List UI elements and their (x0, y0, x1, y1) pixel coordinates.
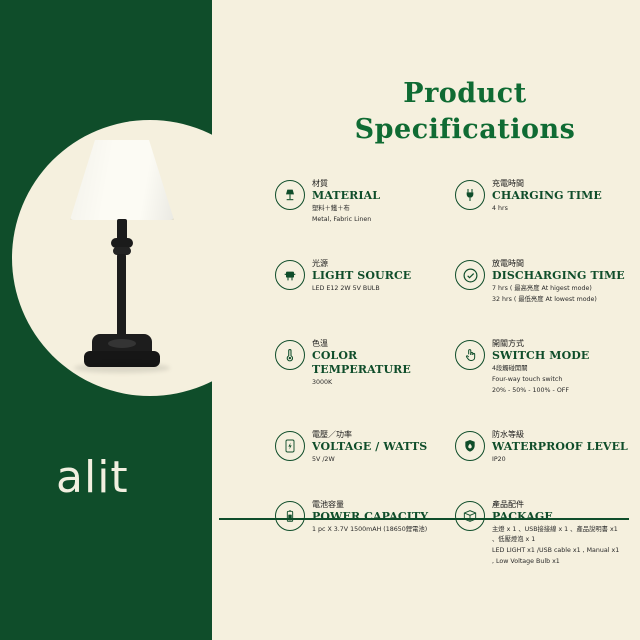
spec-value: 20% - 50% - 100% - OFF (492, 387, 589, 396)
spec-value: 1 pc X 3.7V 1500mAH (18650鋰電池) (312, 526, 428, 535)
spec-label-cn: 色溫 (312, 338, 455, 349)
spec-label-en: VOLTAGE / WATTS (312, 440, 427, 454)
spec-label-cn: 光源 (312, 258, 411, 269)
spec-label-cn: 防水等級 (492, 429, 628, 440)
spec-value: , Low Voltage Bulb x1 (492, 558, 619, 567)
lamp-base-shadow (74, 363, 170, 373)
lamp-shade-shading (70, 140, 174, 220)
spec-value: LED E12 2W 5V BULB (312, 285, 411, 294)
page-title-line-2: Specifications (300, 112, 630, 148)
spec-label-en: SWITCH MODE (492, 349, 589, 363)
spec-value: LED LIGHT x1 /USB cable x1 , Manual x1 (492, 547, 619, 556)
led-chip-icon (275, 260, 305, 290)
lamp-material-icon (275, 180, 305, 210)
spec-value: Four-way touch switch (492, 376, 589, 385)
spec-label-en: PACKAGE (492, 510, 619, 524)
spec-label-cn: 充電時間 (492, 178, 602, 189)
spec-label-cn: 材質 (312, 178, 380, 189)
spec-value: 5V /2W (312, 456, 427, 465)
thermometer-icon (275, 340, 305, 370)
spec-label-en: POWER CAPACITY (312, 510, 428, 524)
spec-row: 電壓／功率 VOLTAGE / WATTS 5V /2W 防水等級 WATERP… (275, 429, 635, 465)
spec-label-cn: 開關方式 (492, 338, 589, 349)
spec-value: 4 hrs (492, 205, 602, 214)
clock-check-icon (455, 260, 485, 290)
spec-label-cn: 電池容量 (312, 499, 428, 510)
spec-value: 、低壓燈泡 x 1 (492, 536, 619, 545)
spec-item-switch-mode: 開關方式 SWITCH MODE 4段觸碰開關 Four-way touch s… (455, 338, 635, 395)
spec-label-en: COLOR TEMPERATURE (312, 349, 455, 377)
spec-item-package: 產品配件 PACKAGE 主燈 x 1 、USB接接線 x 1 、產品說明書 x… (455, 499, 635, 566)
spec-value: 塑料＋鐵＋布 (312, 205, 380, 214)
waterproof-shield-icon (455, 431, 485, 461)
spec-value: 4段觸碰開關 (492, 365, 589, 374)
spec-item-voltage-watts: 電壓／功率 VOLTAGE / WATTS 5V /2W (275, 429, 455, 465)
spec-label-en: MATERIAL (312, 189, 380, 203)
spec-value: 7 hrs ( 最高亮度 At higest mode) (492, 285, 625, 294)
page-title-line-1: Product (300, 76, 630, 112)
spec-label-cn: 產品配件 (492, 499, 619, 510)
spec-item-color-temperature: 色溫 COLOR TEMPERATURE 3000K (275, 338, 455, 395)
bottom-divider (219, 518, 629, 520)
battery-icon (275, 501, 305, 531)
spec-label-en: CHARGING TIME (492, 189, 602, 203)
package-box-icon (455, 501, 485, 531)
spec-label-cn: 電壓／功率 (312, 429, 427, 440)
spec-item-material: 材質 MATERIAL 塑料＋鐵＋布 Metal, Fabric Linen (275, 178, 455, 224)
spec-value: 3000K (312, 379, 455, 388)
page-title: Product Specifications (300, 76, 630, 148)
product-image-circle (12, 120, 288, 396)
lamp-pole (117, 254, 126, 339)
brand-logo: alit (56, 452, 129, 503)
lamp-illustration (12, 120, 288, 396)
plug-icon (455, 180, 485, 210)
spec-item-power-capacity: 電池容量 POWER CAPACITY 1 pc X 3.7V 1500mAH … (275, 499, 455, 566)
lamp-base-ring (108, 339, 136, 348)
spec-item-charging-time: 充電時間 CHARGING TIME 4 hrs (455, 178, 635, 224)
spec-label-cn: 放電時間 (492, 258, 625, 269)
spec-row: 材質 MATERIAL 塑料＋鐵＋布 Metal, Fabric Linen 充… (275, 178, 635, 224)
spec-label-en: DISCHARGING TIME (492, 269, 625, 283)
spec-row: 光源 LIGHT SOURCE LED E12 2W 5V BULB 放電時間 … (275, 258, 635, 304)
spec-value: Metal, Fabric Linen (312, 216, 380, 225)
spec-item-light-source: 光源 LIGHT SOURCE LED E12 2W 5V BULB (275, 258, 455, 304)
page-root: alit Product Specifications 材質 MATERIAL … (0, 0, 640, 640)
spec-row: 色溫 COLOR TEMPERATURE 3000K 開關方式 SWITCH M… (275, 338, 635, 395)
voltage-bolt-icon (275, 431, 305, 461)
spec-value: IP20 (492, 456, 628, 465)
spec-value: 主燈 x 1 、USB接接線 x 1 、產品說明書 x1 (492, 526, 619, 535)
spec-item-discharging-time: 放電時間 DISCHARGING TIME 7 hrs ( 最高亮度 At hi… (455, 258, 635, 304)
spec-grid: 材質 MATERIAL 塑料＋鐵＋布 Metal, Fabric Linen 充… (275, 178, 635, 566)
spec-item-waterproof-level: 防水等級 WATERPROOF LEVEL IP20 (455, 429, 635, 465)
spec-value: 32 hrs ( 最低亮度 At lowest mode) (492, 296, 625, 305)
spec-label-en: WATERPROOF LEVEL (492, 440, 628, 454)
spec-label-en: LIGHT SOURCE (312, 269, 411, 283)
spec-row: 電池容量 POWER CAPACITY 1 pc X 3.7V 1500mAH … (275, 499, 635, 566)
touch-hand-icon (455, 340, 485, 370)
